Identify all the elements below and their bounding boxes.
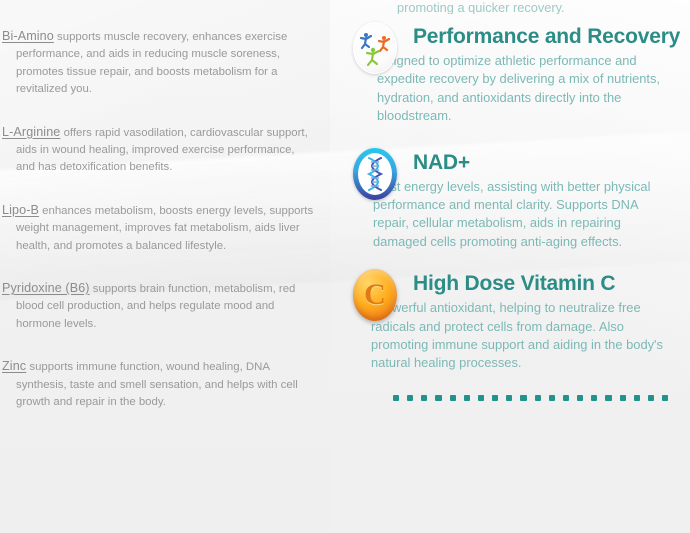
dashed-divider [393, 395, 668, 401]
divider-dash [393, 395, 399, 401]
ingredient-paragraph: Zinc supports immune function, wound hea… [2, 358, 315, 411]
ingredient-term: Zinc [2, 359, 26, 373]
ingredients-column: Bi-Amino supports muscle recovery, enhan… [0, 0, 345, 533]
divider-dash [407, 395, 413, 401]
treatment-title: Performance and Recovery [413, 22, 668, 52]
athletes-running-icon [353, 22, 399, 76]
ingredient-term: Bi-Amino [2, 29, 54, 43]
divider-dash [620, 395, 626, 401]
treatment-title: High Dose Vitamin C [413, 269, 668, 299]
divider-dash [506, 395, 512, 401]
treatment-block-high-dose-vitamin-c: C High Dose Vitamin C - A powerful antio… [351, 269, 668, 373]
infographic-page: Bi-Amino supports muscle recovery, enhan… [0, 0, 690, 533]
ingredient-item-zinc: Zinc supports immune function, wound hea… [2, 358, 315, 411]
treatments-column: promoting a quicker recovery. [345, 0, 690, 533]
vitamin-c-coin-icon: C [353, 269, 399, 323]
ingredient-item-bi-amino: Bi-Amino supports muscle recovery, enhan… [2, 28, 315, 99]
ingredient-item-pyridoxine-b6: Pyridoxine (B6) supports brain function,… [2, 280, 315, 333]
treatment-description: - A powerful antioxidant, helping to neu… [359, 299, 668, 373]
divider-dash [634, 395, 640, 401]
ingredient-description: offers rapid vasodilation, cardiovascula… [16, 127, 308, 174]
ingredient-description: enhances metabolism, boosts energy level… [16, 205, 313, 252]
divider-dash [549, 395, 555, 401]
divider-dash [421, 395, 427, 401]
ingredient-item-lipo-b: Lipo-B enhances metabolism, boosts energ… [2, 202, 315, 255]
divider-dash [591, 395, 597, 401]
ingredient-term: Lipo-B [2, 203, 39, 217]
divider-dash [648, 395, 654, 401]
ingredient-paragraph: Pyridoxine (B6) supports brain function,… [2, 280, 315, 333]
divider-dash [478, 395, 484, 401]
divider-dash [563, 395, 569, 401]
divider-dash [435, 395, 441, 401]
divider-dash [605, 395, 611, 401]
treatment-description: - designed to optimize athletic performa… [365, 52, 668, 126]
treatment-title: NAD+ [413, 148, 668, 178]
cutoff-text-line: promoting a quicker recovery. [351, 0, 668, 14]
ingredient-item-l-arginine: L-Arginine offers rapid vasodilation, ca… [2, 124, 315, 177]
ingredient-description: supports muscle recovery, enhances exerc… [16, 31, 287, 95]
ingredient-term: L-Arginine [2, 125, 60, 139]
treatment-block-performance-and-recovery: Performance and Recovery - designed to o… [351, 22, 668, 126]
ingredient-paragraph: Lipo-B enhances metabolism, boosts energ… [2, 202, 315, 255]
treatment-description: - boost energy levels, assisting with be… [361, 178, 668, 252]
ingredient-paragraph: Bi-Amino supports muscle recovery, enhan… [2, 28, 315, 99]
divider-dash [492, 395, 498, 401]
divider-dash [464, 395, 470, 401]
block-spacer [351, 126, 668, 140]
divider-dash [535, 395, 541, 401]
dna-helix-icon [353, 148, 399, 202]
treatment-block-nad-plus: NAD+ - boost energy levels, assisting wi… [351, 148, 668, 252]
divider-dash [450, 395, 456, 401]
vitamin-c-letter: C [364, 280, 386, 310]
divider-dash [577, 395, 583, 401]
block-spacer [351, 251, 668, 261]
divider-dash [662, 395, 668, 401]
ingredient-term: Pyridoxine (B6) [2, 281, 90, 295]
ingredient-description: supports immune function, wound healing,… [16, 361, 298, 408]
divider-dash [520, 395, 526, 401]
ingredient-paragraph: L-Arginine offers rapid vasodilation, ca… [2, 124, 315, 177]
